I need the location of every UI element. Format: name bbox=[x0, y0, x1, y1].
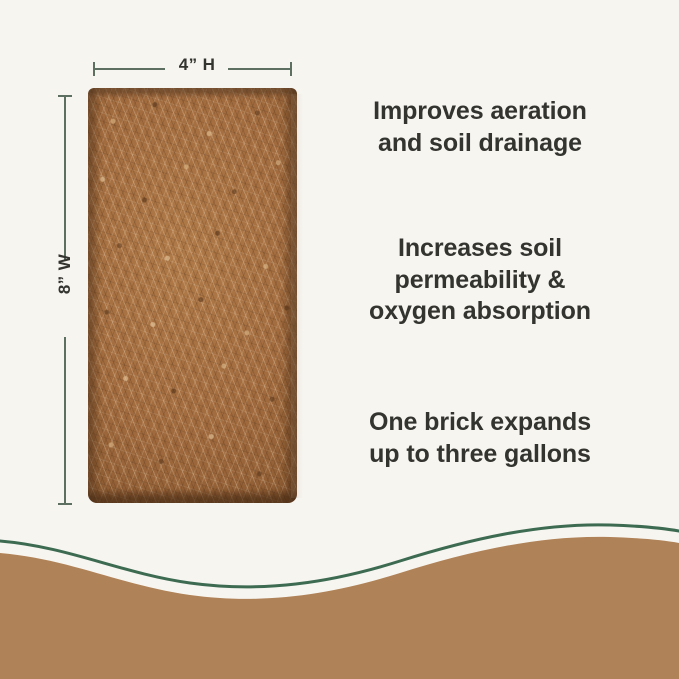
left-dimension-rule-top bbox=[64, 96, 66, 261]
left-dimension-tick-bottom bbox=[58, 503, 72, 505]
height-dimension-label: 8” W bbox=[55, 246, 75, 302]
benefit-text-permeability: Increases soilpermeability &oxygen absor… bbox=[330, 233, 630, 328]
top-dimension-tick-right bbox=[290, 62, 292, 76]
coco-coir-brick-image bbox=[88, 88, 297, 503]
left-dimension-rule-bottom bbox=[64, 337, 66, 504]
soil-wave-decoration bbox=[0, 519, 679, 679]
top-dimension-rule-right bbox=[228, 68, 292, 70]
soil-wave-fill bbox=[0, 537, 679, 679]
top-dimension-rule-left bbox=[93, 68, 165, 70]
brick-surface-texture bbox=[88, 88, 297, 503]
benefit-text-expansion: One brick expandsup to three gallons bbox=[330, 407, 630, 470]
width-dimension-label: 4” H bbox=[165, 55, 229, 75]
infographic-canvas: 4” H 8” W Improves aerationand soil drai… bbox=[0, 0, 679, 679]
benefit-text-aeration: Improves aerationand soil drainage bbox=[330, 96, 630, 159]
